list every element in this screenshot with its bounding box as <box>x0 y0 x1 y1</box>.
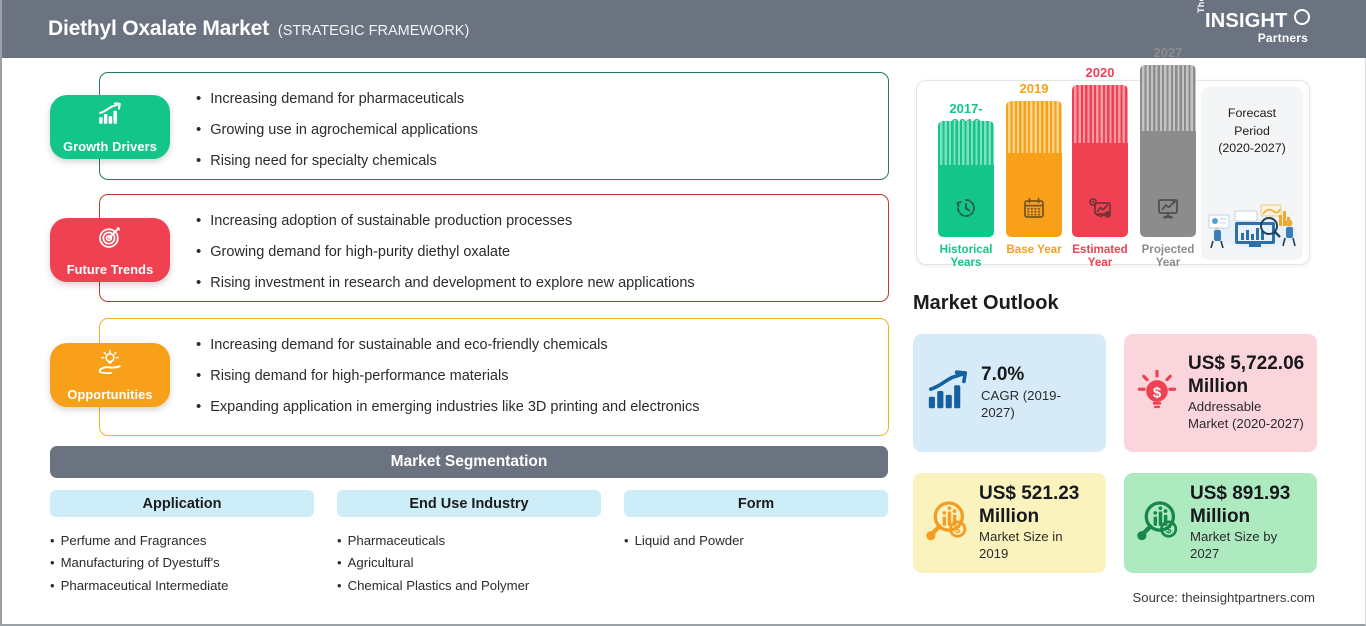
title-subtitle: (STRATEGIC FRAMEWORK) <box>278 23 469 39</box>
list-item: •Pharmaceuticals <box>337 529 601 552</box>
svg-text:$: $ <box>955 525 961 536</box>
timeline-caption: Projected Year <box>1137 243 1199 270</box>
bullet-dot-icon: • <box>196 336 201 353</box>
list-item: •Growing use in agrochemical application… <box>196 114 888 145</box>
outlook-card-3[interactable]: $US$ 891.93 MillionMarket Size by 2027 <box>1124 473 1317 573</box>
forecast-line-2: Period <box>1201 123 1303 141</box>
list-item: •Rising demand for high-performance mate… <box>196 360 888 391</box>
outlook-card-value: 7.0% <box>981 364 1094 386</box>
outlook-card-value: US$ 891.93 Million <box>1190 483 1305 528</box>
bullet-dot-icon: • <box>337 578 342 594</box>
market-segmentation-label: Market Segmentation <box>391 453 548 471</box>
timeline-bar-solid-body <box>938 165 994 237</box>
segmentation-item-text: Pharmaceuticals <box>348 533 445 549</box>
bullet-text: Rising need for specialty chemicals <box>210 152 436 170</box>
segmentation-item-text: Manufacturing of Dyestuff's <box>61 555 220 571</box>
framework-bullet-list: •Increasing demand for pharmaceuticals•G… <box>196 73 888 186</box>
list-item: •Increasing demand for sustainable and e… <box>196 329 888 360</box>
list-item: •Liquid and Powder <box>624 529 888 552</box>
timeline-caption: Base Year <box>1003 243 1065 256</box>
framework-box-future-trends: •Increasing adoption of sustainable prod… <box>99 194 889 302</box>
bar-chart-arrow-icon <box>925 368 971 419</box>
bullet-dot-icon: • <box>50 533 55 549</box>
timeline-bar-solid-body <box>1140 131 1196 237</box>
target-dartboard-icon <box>97 224 123 255</box>
outlook-card-text: US$ 521.23 MillionMarket Size in 2019 <box>979 483 1094 563</box>
logo-insight-text: INSIGHT <box>1205 10 1288 33</box>
infographic-canvas: Diethyl Oxalate Market (STRATEGIC FRAMEW… <box>0 0 1366 626</box>
lightbulb-in-hand-icon <box>97 349 123 380</box>
list-item: •Rising need for specialty chemicals <box>196 145 888 176</box>
segmentation-item-text: Liquid and Powder <box>635 533 744 549</box>
bullet-dot-icon: • <box>196 243 201 260</box>
timeline-column-2019: 2019Base Year <box>1003 89 1065 264</box>
framework-bullet-list: •Increasing adoption of sustainable prod… <box>196 195 888 308</box>
timeline-bar-solid-body <box>1072 143 1128 237</box>
segmentation-item-text: Perfume and Fragrances <box>61 533 207 549</box>
timeline-column-2017-2018: 2017-2018Historical Years <box>935 89 997 264</box>
bullet-text: Growing demand for high-purity diethyl o… <box>210 243 510 261</box>
circle-accent-icon <box>1294 9 1310 25</box>
segmentation-item-list: •Perfume and Fragrances•Manufacturing of… <box>50 529 314 598</box>
svg-text:$: $ <box>1166 525 1172 536</box>
outlook-card-label: CAGR (2019-2027) <box>981 387 1094 422</box>
timeline-year-label: 2019 <box>1003 81 1065 96</box>
timeline-caption: Historical Years <box>935 243 997 270</box>
list-item: •Pharmaceutical Intermediate <box>50 575 314 598</box>
framework-box-opportunities: •Increasing demand for sustainable and e… <box>99 318 889 436</box>
timeline-bar-striped-top <box>1140 65 1196 131</box>
list-item: •Chemical Plastics and Polymer <box>337 575 601 598</box>
year-timeline-panel: 2017-2018Historical Years2019Base Year20… <box>916 80 1310 265</box>
list-item: •Increasing demand for pharmaceuticals <box>196 83 888 114</box>
bullet-dot-icon: • <box>196 212 201 229</box>
clock-history-icon <box>954 196 978 225</box>
framework-badge-growth-drivers[interactable]: Growth Drivers <box>50 95 170 159</box>
framework-badge-label: Growth Drivers <box>63 139 157 154</box>
analytics-team-illustration <box>1205 193 1299 254</box>
bullet-text: Increasing demand for pharmaceuticals <box>210 90 464 108</box>
timeline-bar-solid-body <box>1006 153 1062 237</box>
outlook-card-value: US$ 5,722.06 Million <box>1188 353 1305 398</box>
framework-bullet-list: •Increasing demand for sustainable and e… <box>196 319 888 432</box>
bullet-text: Growing use in agrochemical applications <box>210 121 478 139</box>
outlook-card-text: US$ 5,722.06 MillionAddressable Market (… <box>1188 353 1305 433</box>
timeline-year-label: 2027 <box>1137 45 1199 60</box>
segmentation-column-title: Application <box>143 496 222 512</box>
segmentation-column-end-use-industry: End Use Industry•Pharmaceuticals•Agricul… <box>337 490 601 598</box>
timeline-column-2020: 2020Estimated Year <box>1069 89 1131 264</box>
segmentation-column-form: Form•Liquid and Powder <box>624 490 888 552</box>
outlook-card-label: Market Size in 2019 <box>979 528 1094 563</box>
framework-badge-opportunities[interactable]: Opportunities <box>50 343 170 407</box>
bullet-text: Increasing adoption of sustainable produ… <box>210 212 572 230</box>
chart-gear-icon <box>1088 196 1112 225</box>
outlook-card-0[interactable]: 7.0%CAGR (2019-2027) <box>913 334 1106 452</box>
source-attribution: Source: theinsightpartners.com <box>1132 590 1315 605</box>
bullet-dot-icon: • <box>196 152 201 169</box>
bar-chart-growth-icon <box>97 101 123 132</box>
list-item: •Agricultural <box>337 552 601 575</box>
bullet-dot-icon: • <box>196 398 201 415</box>
bullet-text: Increasing demand for sustainable and ec… <box>210 336 607 354</box>
timeline-year-label: 2020 <box>1069 65 1131 80</box>
magnifier-chart-dollar-icon: $ <box>925 499 969 548</box>
timeline-bar <box>1072 85 1128 237</box>
outlook-card-label: Market Size by 2027 <box>1190 528 1305 563</box>
outlook-card-2[interactable]: $US$ 521.23 MillionMarket Size in 2019 <box>913 473 1106 573</box>
list-item: •Perfume and Fragrances <box>50 529 314 552</box>
bullet-text: Expanding application in emerging indust… <box>210 398 699 416</box>
framework-badge-label: Opportunities <box>67 387 152 402</box>
segmentation-column-title: Form <box>738 496 774 512</box>
timeline-bar-striped-top <box>1006 101 1062 153</box>
bullet-dot-icon: • <box>196 367 201 384</box>
title-main: Diethyl Oxalate Market <box>48 17 269 41</box>
bullet-dot-icon: • <box>50 555 55 571</box>
page-title: Diethyl Oxalate Market (STRATEGIC FRAMEW… <box>48 17 469 41</box>
timeline-bar <box>1006 101 1062 237</box>
segmentation-column-header[interactable]: Application <box>50 490 314 517</box>
outlook-card-text: US$ 891.93 MillionMarket Size by 2027 <box>1190 483 1305 563</box>
calendar-icon <box>1022 196 1046 225</box>
forecast-period-text: Forecast Period (2020-2027) <box>1201 105 1303 158</box>
list-item: •Increasing adoption of sustainable prod… <box>196 205 888 236</box>
segmentation-column-application: Application•Perfume and Fragrances•Manuf… <box>50 490 314 598</box>
framework-box-growth-drivers: •Increasing demand for pharmaceuticals•G… <box>99 72 889 180</box>
bullet-dot-icon: • <box>50 578 55 594</box>
bullet-dot-icon: • <box>337 533 342 549</box>
framework-badge-future-trends[interactable]: Future Trends <box>50 218 170 282</box>
timeline-bar <box>1140 65 1196 237</box>
segmentation-item-text: Agricultural <box>348 555 414 571</box>
insight-partners-logo: The INSIGHT Partners <box>1196 9 1312 51</box>
presentation-chart-icon <box>1156 196 1180 225</box>
forecast-line-1: Forecast <box>1201 105 1303 123</box>
bullet-dot-icon: • <box>624 533 629 549</box>
list-item: •Expanding application in emerging indus… <box>196 391 888 422</box>
bullet-text: Rising investment in research and develo… <box>210 274 694 292</box>
segmentation-column-header[interactable]: End Use Industry <box>337 490 601 517</box>
timeline-bar-striped-top <box>1072 85 1128 143</box>
forecast-line-3: (2020-2027) <box>1201 140 1303 158</box>
market-outlook-title: Market Outlook <box>913 292 1059 315</box>
bullet-dot-icon: • <box>337 555 342 571</box>
market-segmentation-header: Market Segmentation <box>50 446 888 478</box>
segmentation-column-title: End Use Industry <box>409 496 528 512</box>
bullet-dot-icon: • <box>196 90 201 107</box>
segmentation-item-list: •Pharmaceuticals•Agricultural•Chemical P… <box>337 529 601 598</box>
list-item: •Rising investment in research and devel… <box>196 267 888 298</box>
timeline-bar <box>938 121 994 237</box>
list-item: •Growing demand for high-purity diethyl … <box>196 236 888 267</box>
timeline-column-2027: 2027Projected Year <box>1137 89 1199 264</box>
bullet-text: Rising demand for high-performance mater… <box>210 367 508 385</box>
outlook-card-1[interactable]: $US$ 5,722.06 MillionAddressable Market … <box>1124 334 1317 452</box>
forecast-period-panel: Forecast Period (2020-2027) <box>1201 87 1303 260</box>
segmentation-item-text: Chemical Plastics and Polymer <box>348 578 530 594</box>
framework-badge-label: Future Trends <box>67 262 154 277</box>
bullet-dot-icon: • <box>196 274 201 291</box>
svg-text:$: $ <box>1153 384 1162 401</box>
outlook-card-text: 7.0%CAGR (2019-2027) <box>981 364 1094 421</box>
lightbulb-dollar-icon: $ <box>1136 370 1178 417</box>
bullet-dot-icon: • <box>196 121 201 138</box>
timeline-bar-striped-top <box>938 121 994 165</box>
segmentation-column-header[interactable]: Form <box>624 490 888 517</box>
outlook-card-value: US$ 521.23 Million <box>979 483 1094 528</box>
timeline-caption: Estimated Year <box>1069 243 1131 270</box>
outlook-card-label: Addressable Market (2020-2027) <box>1188 398 1305 433</box>
magnifier-chart-dollar-icon: $ <box>1136 499 1180 548</box>
segmentation-item-text: Pharmaceutical Intermediate <box>61 578 229 594</box>
logo-partners-text: Partners <box>1258 31 1308 45</box>
list-item: •Manufacturing of Dyestuff's <box>50 552 314 575</box>
segmentation-item-list: •Liquid and Powder <box>624 529 888 552</box>
